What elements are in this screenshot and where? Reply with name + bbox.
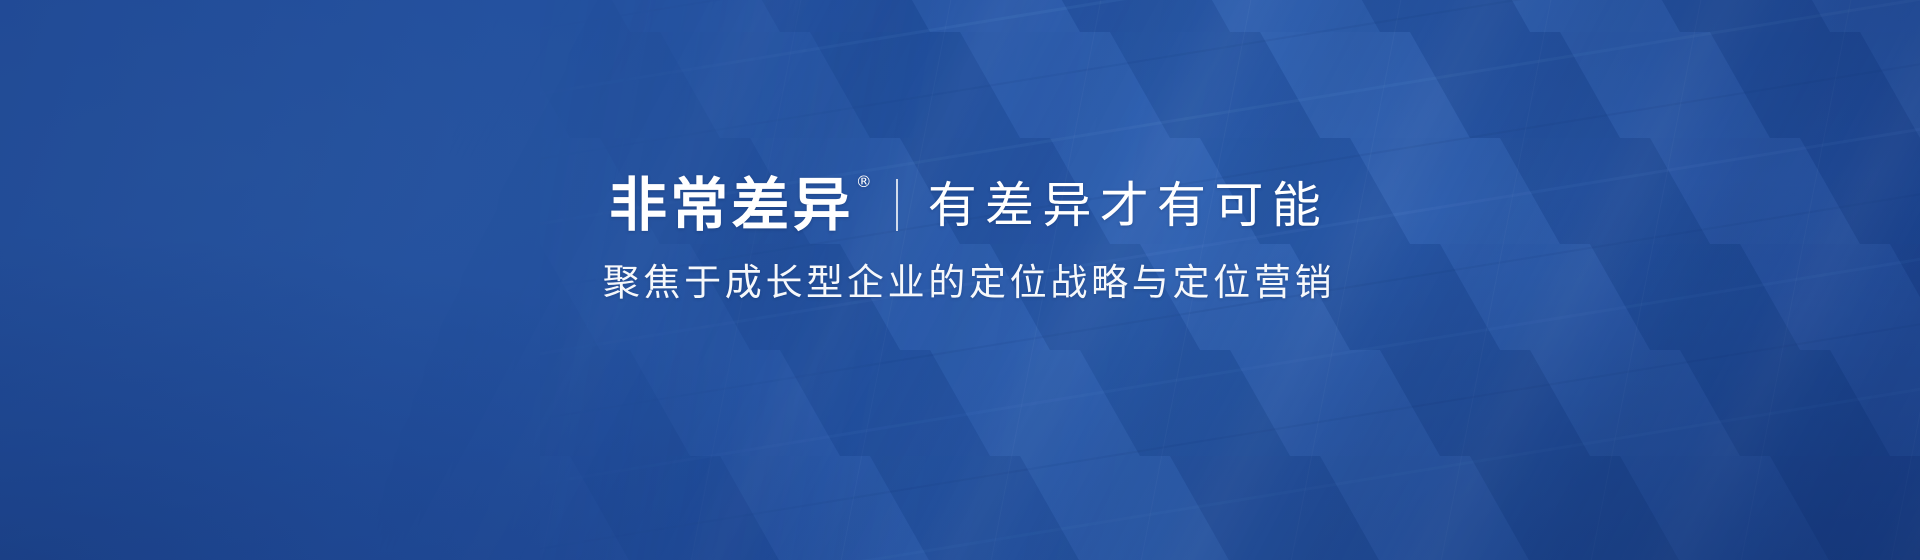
hero-headline: 非常差异® 有差异才有可能 (18, 176, 1920, 234)
headline-divider (896, 179, 898, 231)
brand-name: 非常差异® (609, 176, 870, 234)
brand-tagline: 有差异才有可能 (928, 181, 1329, 230)
registered-trademark-icon: ® (856, 172, 872, 191)
hero-subtitle: 聚焦于成长型企业的定位战略与定位营销 (18, 264, 1920, 301)
brand-name-text: 非常差异 (609, 171, 854, 239)
hero-content: 非常差异® 有差异才有可能 聚焦于成长型企业的定位战略与定位营销 (0, 176, 1920, 301)
hero-banner: POSITIONING STRATEGY 非常差异® 有差异才有可能 聚焦于成长… (0, 0, 1920, 560)
